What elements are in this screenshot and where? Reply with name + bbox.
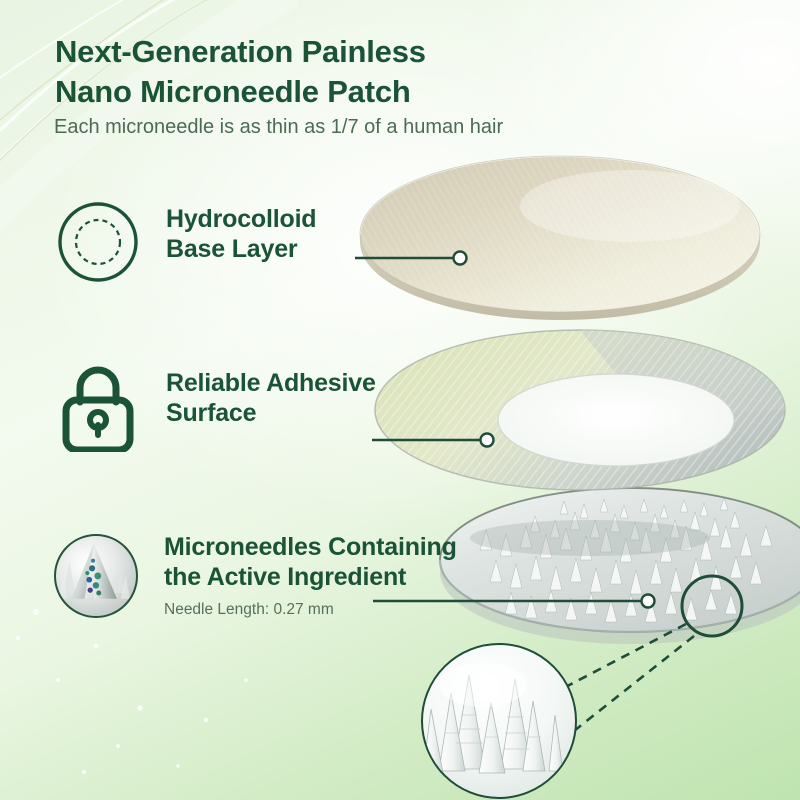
page-title-line-1: Next-Generation Painless bbox=[55, 32, 575, 72]
feature-reliable-adhesive-surface: Reliable Adhesive Surface bbox=[52, 360, 376, 452]
microneedle-pyramid-photo-icon bbox=[50, 528, 142, 620]
padlock-icon bbox=[52, 360, 144, 452]
infographic-canvas: Next-Generation Painless Nano Microneedl… bbox=[0, 0, 800, 800]
patch-layer-adhesive bbox=[375, 330, 785, 490]
dashed-circle-icon bbox=[52, 196, 144, 288]
feature-microneedles-active-ingredient: Microneedles Containing the Active Ingre… bbox=[50, 528, 457, 620]
microneedle-closeup-magnifier bbox=[421, 643, 577, 799]
feature-hydrocolloid-base-layer: Hydrocolloid Base Layer bbox=[52, 196, 316, 288]
patch-layer-base bbox=[360, 156, 760, 320]
needle-length-caption: Needle Length: 0.27 mm bbox=[164, 601, 457, 619]
feature-title: Hydrocolloid Base Layer bbox=[166, 204, 316, 264]
feature-title: Microneedles Containing the Active Ingre… bbox=[164, 532, 457, 592]
feature-title: Reliable Adhesive Surface bbox=[166, 368, 376, 428]
page-title-line-2: Nano Microneedle Patch bbox=[55, 72, 575, 112]
page-subtitle: Each microneedle is as thin as 1/7 of a … bbox=[54, 114, 614, 140]
page-title: Next-Generation Painless Nano Microneedl… bbox=[55, 32, 575, 111]
patch-layer-microneedles bbox=[440, 488, 800, 644]
microneedle-pyramid-photo bbox=[54, 534, 138, 618]
